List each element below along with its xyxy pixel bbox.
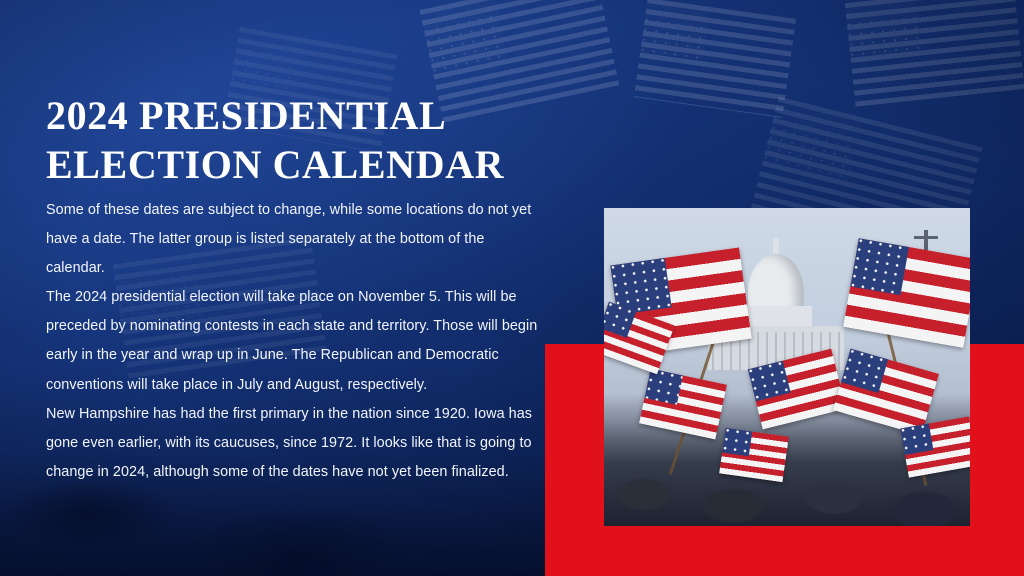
flag-canton — [850, 238, 909, 295]
paragraph-3: New Hampshire has had the first primary … — [46, 400, 546, 487]
flag-canton — [900, 423, 934, 455]
flag-canton — [722, 428, 752, 456]
presentation-slide: 2024 PRESIDENTIAL ELECTION CALENDAR Some… — [0, 0, 1024, 576]
page-title-line-2: ELECTION CALENDAR — [46, 141, 566, 190]
capitol-drum — [740, 306, 812, 328]
page-title-line-1: 2024 PRESIDENTIAL — [46, 92, 566, 141]
flag-canton — [644, 369, 682, 405]
american-flag-icon — [900, 416, 970, 477]
paragraph-2: The 2024 presidential election will take… — [46, 283, 546, 399]
page-title: 2024 PRESIDENTIAL ELECTION CALENDAR — [46, 92, 566, 190]
american-flag-icon — [719, 428, 789, 482]
body-text: Some of these dates are subject to chang… — [46, 196, 546, 487]
capitol-crowd-photo — [604, 208, 970, 526]
paragraph-1: Some of these dates are subject to chang… — [46, 196, 546, 283]
